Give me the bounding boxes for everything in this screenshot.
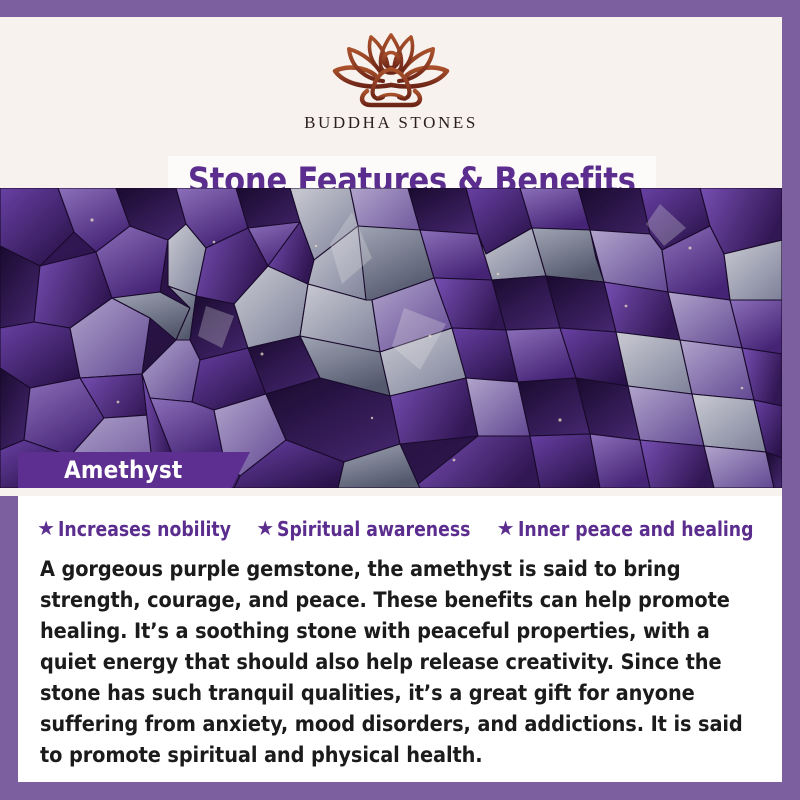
card-header: BUDDHA STONES Stone Features & Benefits <box>0 17 782 188</box>
stone-info-card: BUDDHA STONES Stone Features & Benefits <box>0 0 800 800</box>
amethyst-crystal-cluster-photo <box>0 188 782 488</box>
stone-name-label: Amethyst <box>64 456 182 484</box>
frame-border-left <box>0 492 18 782</box>
lotus-meditation-figure-icon <box>307 23 475 111</box>
frame-border-bottom <box>0 782 800 800</box>
crystal-texture <box>0 188 782 488</box>
benefit-item-3: ★ Inner peace and healing <box>497 517 763 541</box>
content-panel: ★ Increases nobility ★ Spiritual awarene… <box>18 496 782 782</box>
benefit-label-2: Spiritual awareness <box>277 517 470 541</box>
star-icon: ★ <box>256 519 274 539</box>
brand-name: BUDDHA STONES <box>304 113 478 133</box>
benefit-label-1: Increases nobility <box>58 517 231 541</box>
stone-description: A gorgeous purple gemstone, the amethyst… <box>34 554 766 771</box>
benefits-list: ★ Increases nobility ★ Spiritual awarene… <box>34 514 766 544</box>
star-icon: ★ <box>37 519 55 539</box>
frame-border-top <box>0 0 800 17</box>
brand-logo: BUDDHA STONES <box>0 23 782 143</box>
benefit-item-2: ★ Spiritual awareness <box>256 517 478 541</box>
benefit-item-1: ★ Increases nobility <box>37 517 238 541</box>
frame-border-right <box>782 0 800 783</box>
photo-bottom-strip <box>0 488 782 496</box>
stone-name-band: Amethyst <box>18 452 250 488</box>
star-icon: ★ <box>497 519 515 539</box>
benefit-label-3: Inner peace and healing <box>518 517 753 541</box>
